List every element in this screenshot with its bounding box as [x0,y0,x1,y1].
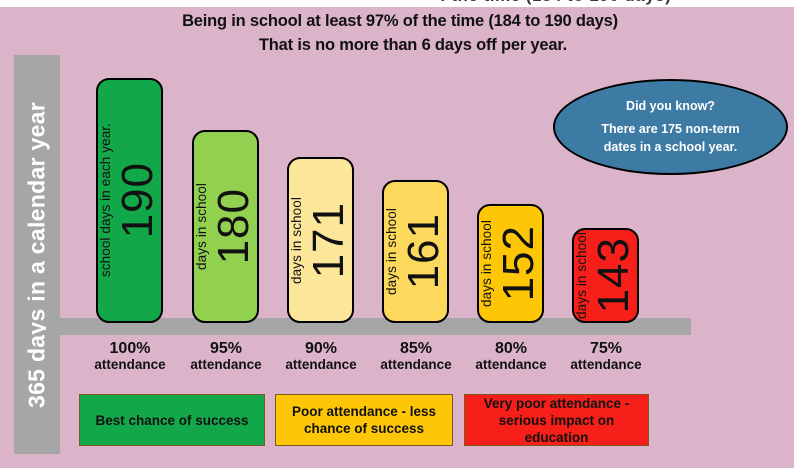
percent-label-100: 100% attendance [84,341,176,373]
legend-very-poor-attendance: Very poor attendance - serious impact on… [464,394,649,446]
percent-caption: attendance [275,357,367,373]
bar-80-percent: 152 days in school [477,204,544,323]
bar-caption: days in school [479,220,494,307]
percent-value: 85% [370,341,462,357]
bar-caption: days in school [384,208,399,295]
percent-value: 75% [560,341,652,357]
title-line-2: That is no more than 6 days off per year… [60,33,740,57]
percent-caption: attendance [180,357,272,373]
calendar-year-axis-label: 365 days in a calendar year [24,101,51,407]
percent-value: 80% [465,341,557,357]
percent-label-85: 85% attendance [370,341,462,373]
did-you-know-callout: Did you know? There are 175 non-term dat… [553,79,788,175]
bar-100-percent: 190 school days in each year. [96,78,163,323]
legend-label: Poor attendance - less chance of success [280,403,448,437]
bar-75-percent: 143 days in school [572,228,639,323]
bar-caption: school days in each year. [98,123,113,277]
percent-caption: attendance [465,357,557,373]
bar-caption: days in school [574,232,589,319]
bar-90-percent: 171 days in school [287,157,354,323]
bar-95-percent: 180 days in school [192,130,259,323]
attendance-infographic: f the time (184 to 190 days) Being in sc… [0,0,794,468]
percent-label-75: 75% attendance [560,341,652,373]
page-title: Being in school at least 97% of the time… [60,9,740,57]
percent-value: 90% [275,341,367,357]
percent-label-80: 80% attendance [465,341,557,373]
bar-caption: days in school [194,183,209,270]
legend-poor-attendance: Poor attendance - less chance of success [275,394,453,446]
callout-heading: Did you know? [626,99,715,114]
percent-caption: attendance [370,357,462,373]
bar-85-percent: 161 days in school [382,180,449,323]
percent-label-90: 90% attendance [275,341,367,373]
callout-line-1: There are 175 non-term [601,122,739,137]
top-cropped-text-sliver: f the time (184 to 190 days) [0,0,794,7]
calendar-year-axis-bar: 365 days in a calendar year [14,55,60,454]
bar-value-label: 152 [494,225,544,301]
percent-caption: attendance [84,357,176,373]
bar-value-label: 161 [399,213,449,289]
percent-value: 100% [84,341,176,357]
bar-value-label: 180 [209,188,259,264]
bar-value-label: 190 [113,162,163,238]
legend-label: Best chance of success [95,412,248,429]
percent-value: 95% [180,341,272,357]
legend-best-chance: Best chance of success [79,394,265,446]
percent-label-95: 95% attendance [180,341,272,373]
legend-label: Very poor attendance - serious impact on… [469,395,644,446]
callout-line-2: dates in a school year. [604,140,737,155]
bar-value-label: 143 [589,237,639,313]
bar-value-label: 171 [304,202,354,278]
cropped-title-fragment: f the time (184 to 190 days) [440,0,671,6]
title-line-1: Being in school at least 97% of the time… [60,9,740,33]
bar-caption: days in school [289,197,304,284]
percent-caption: attendance [560,357,652,373]
